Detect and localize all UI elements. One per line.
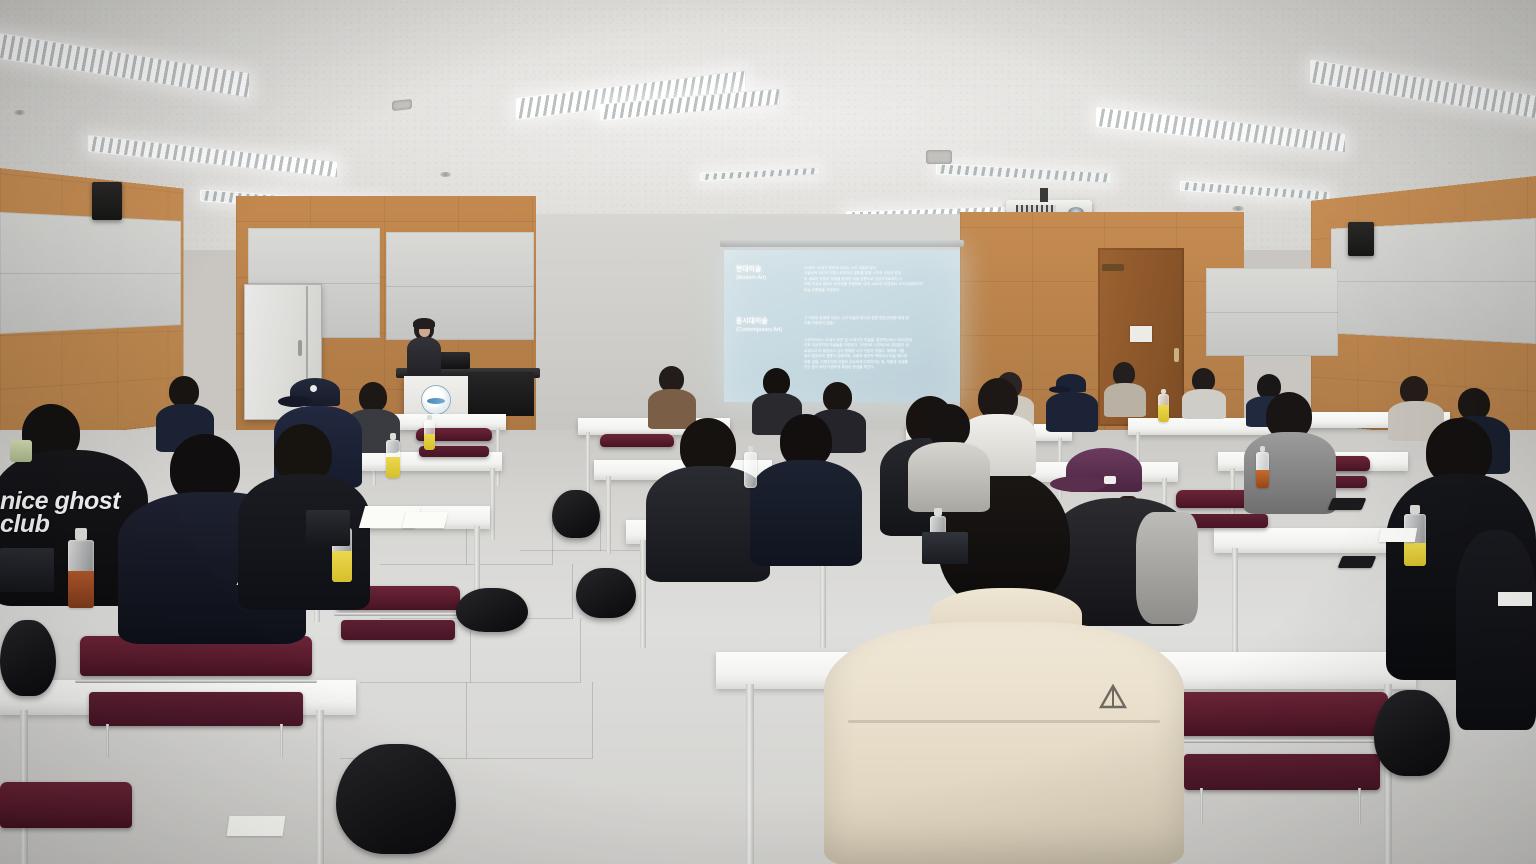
water-bottle[interactable] — [1256, 452, 1269, 488]
fleece-yoke-seam — [848, 720, 1160, 723]
backpack[interactable] — [336, 744, 456, 854]
audience-member — [1456, 530, 1536, 730]
cup[interactable] — [10, 440, 32, 462]
chair[interactable] — [0, 782, 132, 864]
backpack[interactable] — [576, 568, 636, 618]
wall-speaker-right — [1348, 222, 1374, 256]
water-bottle[interactable] — [744, 452, 757, 488]
smoke-detector — [14, 110, 25, 115]
paper-handout[interactable] — [402, 512, 448, 528]
laptop[interactable] — [922, 532, 968, 564]
water-bottle[interactable] — [424, 420, 435, 450]
lectern-side — [468, 372, 534, 416]
ceiling — [0, 0, 1536, 250]
backpack[interactable] — [0, 620, 56, 696]
foreground-student-fleece — [824, 470, 1184, 864]
lecturer — [404, 318, 444, 374]
cap-logo-icon — [310, 385, 317, 392]
left-wall-panel — [0, 212, 181, 334]
audience-member — [1046, 374, 1098, 432]
slide-body-block-2: 그 이후로 현재에 이르는 시기 미술의 양식과 경향 전반(어떠한 특정 양 … — [804, 316, 950, 327]
audience-member — [1104, 362, 1146, 416]
lecturer-hair-front — [413, 318, 435, 329]
lecturer-torso — [407, 337, 441, 375]
wall-speaker-left — [92, 182, 122, 220]
backpack[interactable] — [456, 588, 528, 632]
smoke-detector — [1232, 206, 1244, 211]
cabinet-handle[interactable] — [298, 340, 302, 356]
audience-member — [1182, 368, 1226, 418]
projector-mount — [1040, 188, 1048, 202]
slide-body-block-3: 사전적으로는 20세기 후반 및 21세기의 미술을, 일반적으로는 2000년… — [804, 338, 950, 371]
fleece-jacket — [824, 622, 1184, 864]
chair[interactable] — [1176, 692, 1388, 818]
laptop[interactable] — [0, 548, 54, 592]
paper-handout[interactable] — [1498, 592, 1532, 606]
backpack[interactable] — [552, 490, 600, 538]
slide-body-block-1: 19세기~20세기 중반에 이르는 시기 미술의 양식 기술상의 혁신과 전통으… — [804, 266, 950, 293]
paper-handout[interactable] — [227, 816, 286, 836]
smartphone[interactable] — [1328, 498, 1367, 510]
ceiling-vent — [926, 150, 952, 164]
north-face-logo-icon — [1096, 684, 1130, 710]
backpack[interactable] — [1374, 690, 1450, 776]
front-right-panel — [1206, 268, 1338, 356]
water-bottle[interactable] — [1158, 394, 1169, 422]
door-handle[interactable] — [1174, 348, 1179, 362]
paper-handout[interactable] — [1379, 528, 1417, 542]
chair[interactable] — [80, 636, 312, 756]
audience-member — [908, 404, 990, 510]
university-emblem-icon — [422, 386, 450, 414]
screen-roller[interactable] — [720, 240, 964, 247]
water-bottle[interactable] — [386, 440, 400, 478]
slide-heading-modern-art: 현대미술 (Modern Art) — [736, 266, 766, 282]
slide-heading-contemporary-art: 동시대미술 (Contemporary Art) — [736, 318, 782, 334]
smartphone[interactable] — [1338, 556, 1377, 568]
smoke-detector — [440, 172, 451, 177]
door-closer — [1102, 264, 1124, 271]
door-sign — [1130, 326, 1152, 342]
ceiling-vent — [392, 99, 412, 111]
laptop[interactable] — [306, 510, 350, 546]
lecture-hall-photo: 현대미술 (Modern Art) 동시대미술 (Contemporary Ar… — [0, 0, 1536, 864]
water-bottle[interactable] — [68, 540, 94, 608]
